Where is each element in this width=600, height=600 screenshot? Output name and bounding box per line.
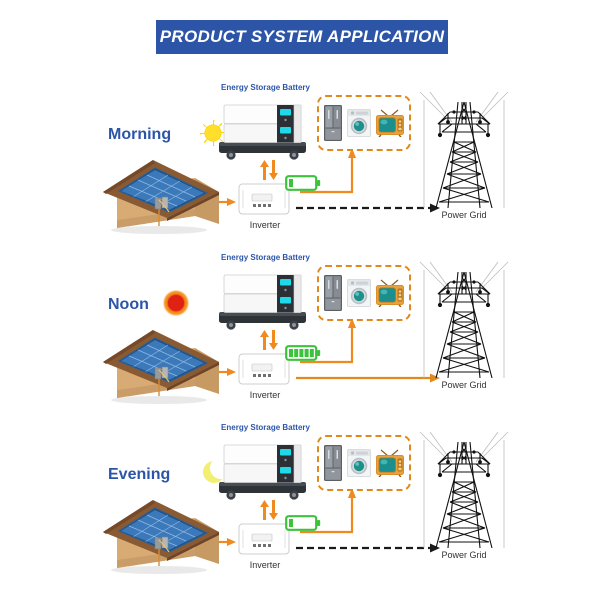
scenario-panel-morning: Morning Energy Storage Bat bbox=[0, 80, 600, 250]
fridge-icon bbox=[323, 274, 343, 312]
energy-storage-battery-graphic bbox=[215, 268, 310, 333]
battery-bidirectional-flow-evening bbox=[256, 500, 282, 520]
battery-bidirectional-flow-noon bbox=[256, 330, 282, 350]
house-graphic bbox=[95, 480, 225, 575]
tv-icon bbox=[375, 279, 405, 307]
bidirectional-flow-arrows bbox=[256, 160, 282, 180]
solar-house-morning bbox=[95, 140, 225, 235]
bidirectional-flow-arrows bbox=[256, 500, 282, 520]
inverter-label: Inverter bbox=[230, 220, 300, 230]
power-grid-label: Power Grid bbox=[410, 210, 518, 220]
page-title: PRODUCT SYSTEM APPLICATION bbox=[160, 27, 445, 47]
solar-house-evening bbox=[95, 480, 225, 575]
battery-charge-indicator-evening bbox=[285, 515, 321, 531]
inverter-label: Inverter bbox=[230, 390, 300, 400]
power-grid-label: Power Grid bbox=[410, 550, 518, 560]
energy-storage-battery-label: Energy Storage Battery bbox=[213, 423, 318, 432]
battery-charge-indicator bbox=[285, 515, 321, 531]
fridge-icon bbox=[323, 444, 343, 482]
battery-charge-indicator-noon bbox=[285, 345, 321, 361]
solar-house-noon bbox=[95, 310, 225, 405]
energy-storage-battery-label: Energy Storage Battery bbox=[213, 83, 318, 92]
washer-icon bbox=[346, 448, 372, 478]
battery-charge-indicator bbox=[285, 345, 321, 361]
power-grid-tower-noon bbox=[418, 260, 510, 380]
energy-storage-battery-evening bbox=[215, 438, 310, 503]
power-grid-tower-morning bbox=[418, 90, 510, 210]
appliances-row bbox=[319, 267, 409, 319]
scenario-panel-noon: Noon Energy Storage Batter bbox=[0, 250, 600, 420]
washer-icon bbox=[346, 278, 372, 308]
appliances-group-noon bbox=[317, 265, 411, 321]
battery-charge-indicator bbox=[285, 175, 321, 191]
battery-bidirectional-flow-morning bbox=[256, 160, 282, 180]
appliances-row bbox=[319, 437, 409, 489]
battery-charge-indicator-morning bbox=[285, 175, 321, 191]
washer-icon bbox=[346, 108, 372, 138]
appliances-group-morning bbox=[317, 95, 411, 151]
house-graphic bbox=[95, 140, 225, 235]
power-grid-label: Power Grid bbox=[410, 380, 518, 390]
tv-icon bbox=[375, 449, 405, 477]
scenario-panel-evening: Evening Energy Storage Bat bbox=[0, 420, 600, 590]
energy-storage-battery-graphic bbox=[215, 98, 310, 163]
power-grid-tower-evening bbox=[418, 430, 510, 550]
house-graphic bbox=[95, 310, 225, 405]
page-title-banner: PRODUCT SYSTEM APPLICATION bbox=[156, 20, 448, 54]
appliances-group-evening bbox=[317, 435, 411, 491]
power-grid-tower-graphic bbox=[418, 90, 510, 210]
energy-storage-battery-morning bbox=[215, 98, 310, 163]
energy-storage-battery-graphic bbox=[215, 438, 310, 503]
tv-icon bbox=[375, 109, 405, 137]
bidirectional-flow-arrows bbox=[256, 330, 282, 350]
energy-storage-battery-label: Energy Storage Battery bbox=[213, 253, 318, 262]
power-grid-tower-graphic bbox=[418, 430, 510, 550]
inverter-label: Inverter bbox=[230, 560, 300, 570]
fridge-icon bbox=[323, 104, 343, 142]
power-grid-tower-graphic bbox=[418, 260, 510, 380]
diagram-page: PRODUCT SYSTEM APPLICATION Morning bbox=[0, 0, 600, 600]
appliances-row bbox=[319, 97, 409, 149]
energy-storage-battery-noon bbox=[215, 268, 310, 333]
